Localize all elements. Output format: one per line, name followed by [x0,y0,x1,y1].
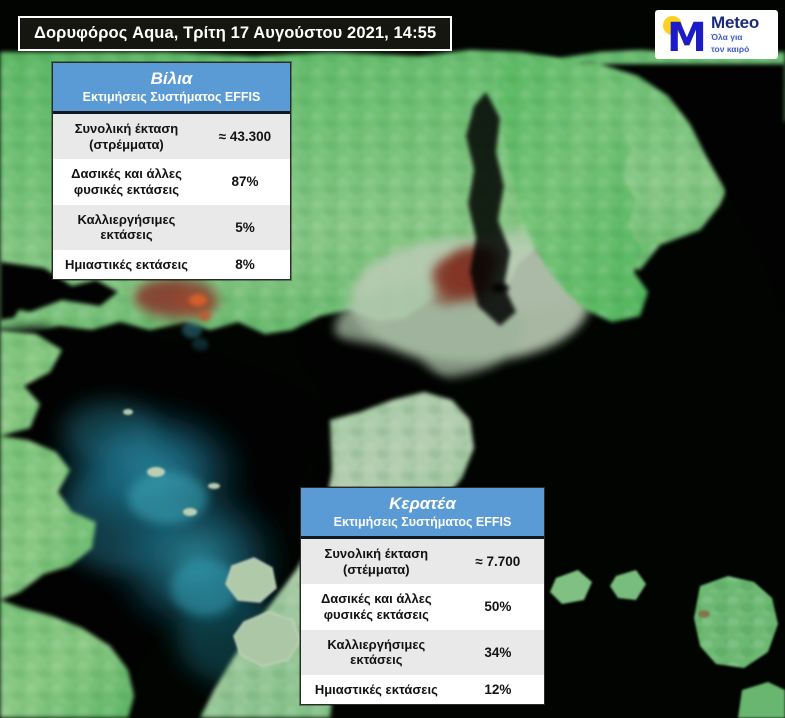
row-value: ≈ 43.300 [200,114,290,159]
row-value: 8% [200,250,290,280]
row-value: 50% [452,584,544,629]
table-subtitle: Εκτιμήσεις Συστήματος EFFIS [305,515,540,531]
row-value: ≈ 7.700 [452,539,544,584]
row-label: Δασικές και άλλες φυσικές εκτάσεις [53,159,200,204]
row-label: Συνολική έκταση (στρέμματα) [53,114,200,159]
effis-table-vilia: Βίλια Εκτιμήσεις Συστήματος EFFIS Συνολι… [52,62,291,280]
table-row: Ημιαστικές εκτάσεις 8% [53,250,290,280]
table-row: Καλλιεργήσιμες εκτάσεις 34% [301,630,544,675]
row-label-line1: Ημιαστικές εκτάσεις [315,682,438,697]
row-label-line2: εκτάσεις [350,652,402,667]
row-label-line1: Καλλιεργήσιμες [78,212,176,227]
table-header-keratea: Κερατέα Εκτιμήσεις Συστήματος EFFIS [301,488,544,539]
row-label-line1: Δασικές και άλλες [71,166,182,181]
row-label-line2: (στέμματα) [343,562,410,577]
table-header-vilia: Βίλια Εκτιμήσεις Συστήματος EFFIS [53,63,290,114]
screenshot-root: Δορυφόρος Aqua, Τρίτη 17 Αυγούστου 2021,… [0,0,785,718]
table-title: Κερατέα [305,494,540,514]
table-subtitle: Εκτιμήσεις Συστήματος EFFIS [57,90,286,106]
letter-m-icon: M [667,20,705,56]
table-row: Δασικές και άλλες φυσικές εκτάσεις 87% [53,159,290,204]
logo-mark: M [661,14,709,56]
row-value: 12% [452,675,544,705]
table-body-vilia: Συνολική έκταση (στρέμματα) ≈ 43.300 Δασ… [53,114,290,279]
row-label-line1: Συνολική έκταση [325,546,429,561]
satellite-datetime-caption: Δορυφόρος Aqua, Τρίτη 17 Αυγούστου 2021,… [18,16,452,51]
table-row: Συνολική έκταση (στέμματα) ≈ 7.700 [301,539,544,584]
table-row: Καλλιεργήσιμες εκτάσεις 5% [53,205,290,250]
row-label-line2: φυσικές εκτάσεις [74,182,179,197]
row-label: Συνολική έκταση (στέμματα) [301,539,452,584]
row-label: Δασικές και άλλες φυσικές εκτάσεις [301,584,452,629]
table-body-keratea: Συνολική έκταση (στέμματα) ≈ 7.700 Δασικ… [301,539,544,704]
table-row: Ημιαστικές εκτάσεις 12% [301,675,544,705]
row-label-line2: (στρέμματα) [89,137,164,152]
table-title: Βίλια [57,69,286,89]
logo-tagline-line1: Όλα για [711,33,759,43]
logo-text: Meteo Όλα για τον καιρό [711,14,759,55]
effis-table-keratea: Κερατέα Εκτιμήσεις Συστήματος EFFIS Συνο… [300,487,545,705]
table-row: Δασικές και άλλες φυσικές εκτάσεις 50% [301,584,544,629]
row-label-line1: Δασικές και άλλες [321,591,432,606]
row-label-line2: εκτάσεις [100,227,152,242]
row-label: Καλλιεργήσιμες εκτάσεις [53,205,200,250]
row-label-line1: Ημιαστικές εκτάσεις [65,257,188,272]
logo-brand-name: Meteo [711,14,759,31]
row-label-line1: Καλλιεργήσιμες [327,637,425,652]
table-row: Συνολική έκταση (στρέμματα) ≈ 43.300 [53,114,290,159]
meteo-logo: M Meteo Όλα για τον καιρό [655,10,778,59]
row-label: Καλλιεργήσιμες εκτάσεις [301,630,452,675]
row-label-line1: Συνολική έκταση [75,121,179,136]
row-value: 87% [200,159,290,204]
row-value: 5% [200,205,290,250]
row-value: 34% [452,630,544,675]
row-label-line2: φυσικές εκτάσεις [324,607,429,622]
row-label: Ημιαστικές εκτάσεις [301,675,452,705]
row-label: Ημιαστικές εκτάσεις [53,250,200,280]
logo-tagline-line2: τον καιρό [711,45,759,55]
